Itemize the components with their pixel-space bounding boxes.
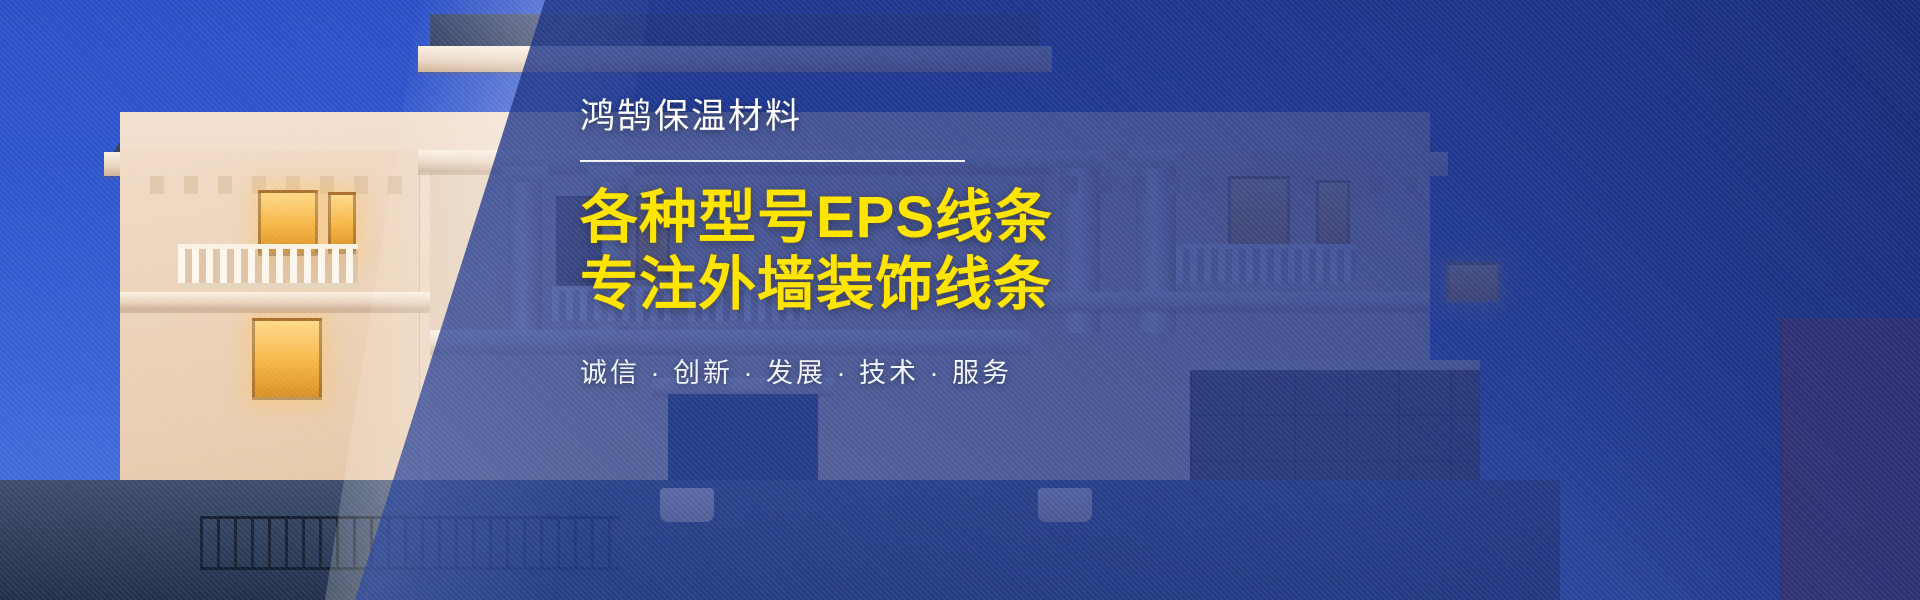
planter-plant-left (656, 460, 720, 496)
column-capital-4 (1128, 150, 1182, 168)
headline-line-2: 专注外墙装饰线条 (580, 251, 1100, 318)
brand-name: 鸿鹄保温材料 (580, 96, 1100, 138)
planter-plant-right (1034, 460, 1098, 496)
banner-copy: 鸿鹄保温材料 各种型号EPS线条 专注外墙装饰线条 诚信 · 创新 · 发展 ·… (580, 96, 1100, 390)
headline: 各种型号EPS线条 专注外墙装饰线条 (580, 184, 1100, 319)
iron-railing (200, 516, 620, 570)
divider-rule (580, 160, 965, 162)
balustrade-left (178, 244, 358, 288)
hero-banner: 鸿鹄保温材料 各种型号EPS线条 专注外墙装饰线条 诚信 · 创新 · 发展 ·… (0, 0, 1920, 600)
window-upper-right-2 (1316, 180, 1350, 246)
shrub-right (900, 514, 1160, 600)
tagline: 诚信 · 创新 · 发展 · 技术 · 服务 (580, 351, 1100, 390)
column-1 (508, 182, 542, 332)
window-lower-left-1 (252, 318, 322, 400)
window-gable-right (1446, 262, 1500, 302)
balustrade-right (1176, 244, 1356, 288)
cornice-mid-left (120, 292, 430, 310)
red-wall (1780, 318, 1920, 600)
headline-line-1: 各种型号EPS线条 (580, 184, 1100, 251)
window-upper-right-1 (1228, 176, 1290, 248)
cornice-top-center (418, 46, 1052, 72)
roof-slab-center (430, 14, 1040, 50)
column-capital-1 (502, 166, 548, 182)
